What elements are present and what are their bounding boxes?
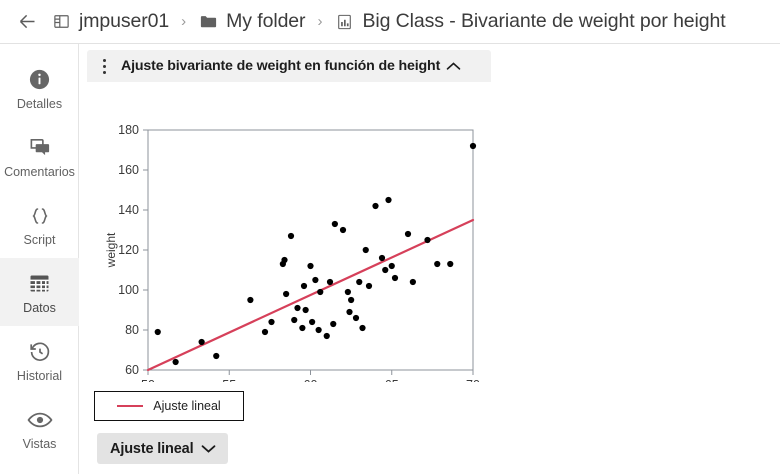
breadcrumb-bar: jmpuser01 › My folder › Big Class - Biva…: [0, 0, 780, 44]
breadcrumb-user-label: jmpuser01: [79, 10, 169, 33]
chevron-down-icon: [201, 443, 216, 454]
svg-text:65: 65: [385, 378, 399, 382]
sidebar-item-comentarios[interactable]: Comentarios: [0, 122, 79, 190]
fit-type-dropdown[interactable]: Ajuste lineal: [97, 433, 228, 464]
plot-legend[interactable]: Ajuste lineal: [94, 391, 244, 421]
legend-label: Ajuste lineal: [153, 399, 220, 413]
right-empty-pane: [491, 44, 780, 474]
svg-text:100: 100: [118, 283, 139, 297]
breadcrumb-report-label: Big Class - Bivariante de weight por hei…: [362, 10, 725, 33]
breadcrumb-separator-1: ›: [181, 13, 186, 30]
report-header: Ajuste bivariante de weight en función d…: [87, 50, 491, 82]
plot-frame: [148, 130, 473, 370]
scatter-plot-area[interactable]: 6080100120140160180 5055606570 weight he…: [87, 82, 491, 382]
svg-text:60: 60: [304, 378, 318, 382]
svg-text:160: 160: [118, 163, 139, 177]
breadcrumb-separator-2: ›: [317, 13, 322, 30]
fit-type-label: Ajuste lineal: [110, 441, 193, 457]
svg-text:70: 70: [466, 378, 480, 382]
svg-text:60: 60: [125, 363, 139, 377]
breadcrumb-item-folder[interactable]: My folder: [197, 10, 305, 33]
x-axis-ticks: 5055606570: [141, 370, 480, 382]
sidebar-label-vistas: Vistas: [23, 437, 57, 451]
folder-icon: [197, 11, 219, 33]
info-icon: [28, 66, 51, 94]
bivariate-scatter-svg: 6080100120140160180 5055606570 weight he…: [87, 82, 491, 382]
arrow-left-icon: [17, 11, 38, 32]
svg-text:140: 140: [118, 203, 139, 217]
comment-icon: [28, 134, 52, 162]
report-title: Ajuste bivariante de weight en función d…: [121, 58, 440, 74]
sidebar-label-detalles: Detalles: [17, 97, 62, 111]
breadcrumb-item-report[interactable]: Big Class - Bivariante de weight por hei…: [333, 10, 725, 33]
sidebar-item-datos[interactable]: Datos: [0, 258, 79, 326]
sidebar-item-detalles[interactable]: Detalles: [0, 54, 79, 122]
y-axis-ticks: 6080100120140160180: [118, 123, 148, 377]
history-icon: [28, 338, 52, 366]
breadcrumb-folder-label: My folder: [226, 10, 305, 33]
bivariate-report-card: Ajuste bivariante de weight en función d…: [87, 50, 491, 474]
breadcrumb-item-user[interactable]: jmpuser01: [50, 10, 169, 33]
svg-text:80: 80: [125, 323, 139, 337]
sidebar-label-historial: Historial: [17, 369, 62, 383]
table-icon: [50, 11, 72, 33]
report-chart-icon: [333, 11, 355, 33]
svg-text:55: 55: [222, 378, 236, 382]
more-options-icon[interactable]: [95, 54, 113, 78]
y-axis-label: weight: [104, 232, 118, 268]
eye-icon: [27, 406, 53, 434]
svg-text:50: 50: [141, 378, 155, 382]
sidebar-item-historial[interactable]: Historial: [0, 326, 79, 394]
sidebar-item-script[interactable]: Script: [0, 190, 79, 258]
sidebar-item-vistas[interactable]: Vistas: [0, 394, 79, 462]
svg-text:120: 120: [118, 243, 139, 257]
left-sidebar: Detalles Comentarios Script Datos: [0, 44, 79, 474]
sidebar-label-comentarios: Comentarios: [4, 165, 75, 179]
braces-icon: [27, 202, 53, 230]
back-button[interactable]: [14, 9, 40, 35]
chevron-up-icon[interactable]: [446, 61, 461, 72]
sidebar-label-script: Script: [24, 233, 56, 247]
legend-line-swatch: [117, 405, 143, 407]
sidebar-label-datos: Datos: [23, 301, 56, 315]
grid-icon: [28, 270, 51, 298]
svg-text:180: 180: [118, 123, 139, 137]
